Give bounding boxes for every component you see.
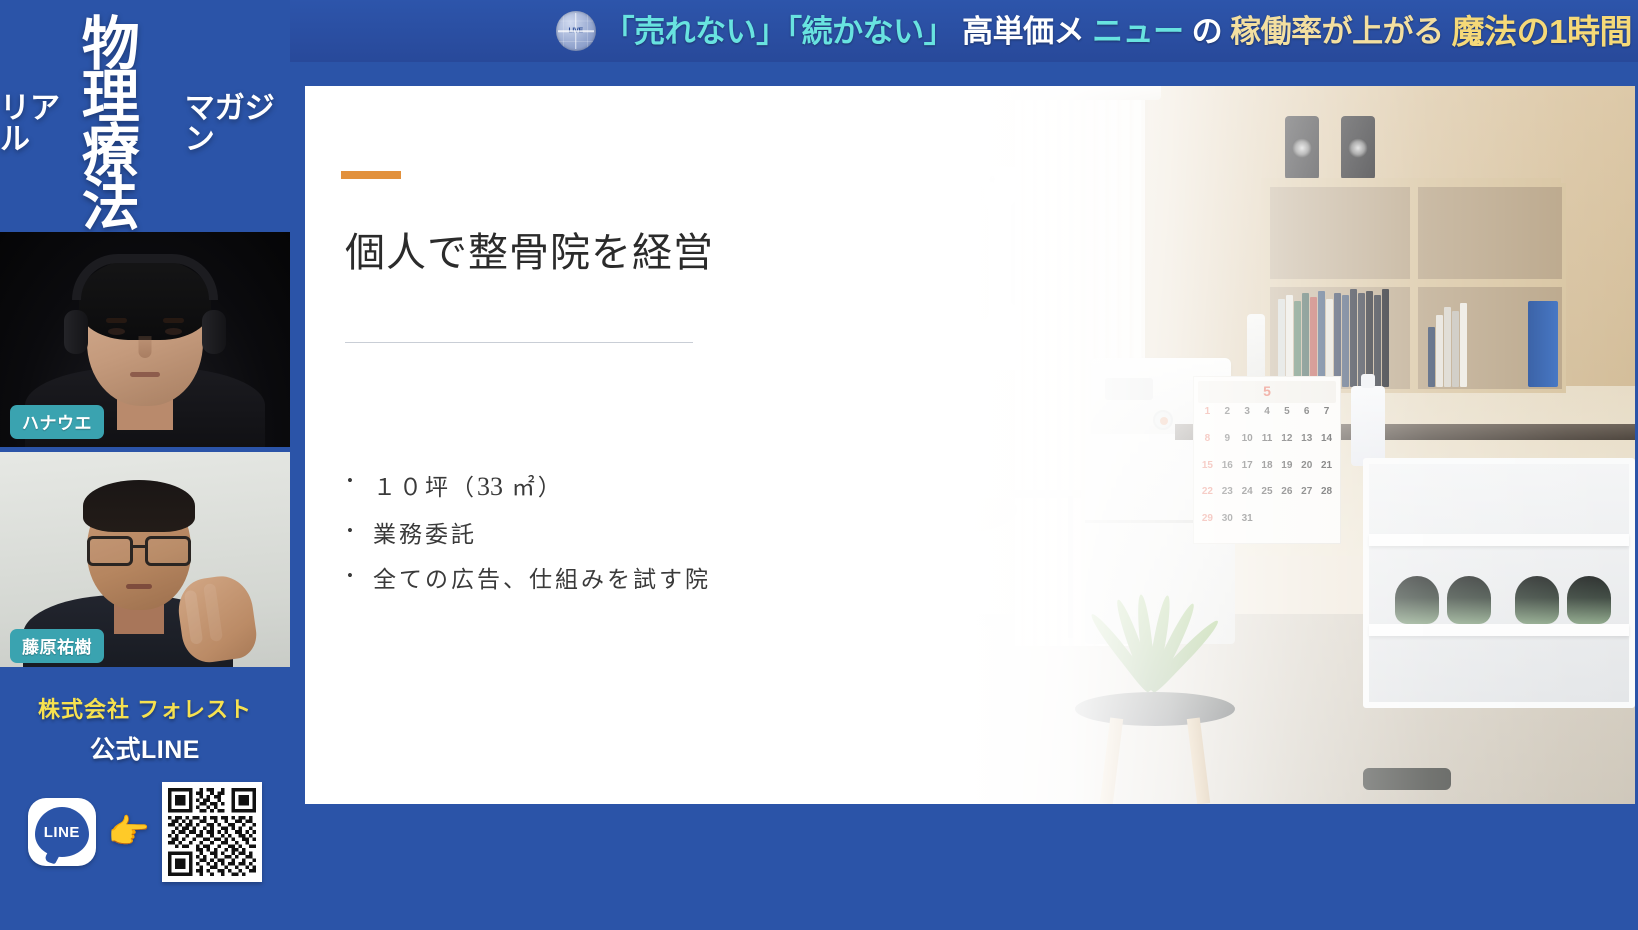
participant-mouth-2 [126, 584, 152, 589]
line-cta-row: LINE 👉 [0, 782, 290, 882]
eyeglasses-icon [87, 536, 191, 562]
participant-name-tag-2: 藤原祐樹 [10, 629, 104, 663]
participant-name-tag-1: ハナウエ [10, 405, 104, 439]
header-segment-2: 高単価メ [962, 16, 1084, 47]
accent-bar [341, 171, 401, 179]
globe-live-icon: LIVE [556, 11, 596, 51]
qr-code[interactable] [162, 782, 262, 882]
list-item: 業務委託 [341, 521, 761, 550]
sidebar: リアル 物理 療法 マガジン ハナウエ [0, 0, 290, 930]
headphone-cup-left [64, 310, 88, 354]
header-segment-5: 稼働率が上がる [1230, 16, 1444, 47]
branding-block: 株式会社 フォレスト 公式LINE LINE 👉 [0, 680, 290, 930]
slide-bullet-list: １０坪（33 ㎡） 業務委託 全ての広告、仕組みを試す院 [341, 471, 761, 612]
bullet-1-emphasis: 33 [477, 472, 503, 501]
header-title-group: LIVE 「売れない」「続かない」 高単価メ ニュー の 稼働率が上がる 魔法の… [556, 11, 1632, 51]
company-name: 株式会社 フォレスト [0, 692, 290, 724]
logo-right-vertical: マガジン [185, 18, 290, 231]
presentation-slide: 筋 肉 図 骨 [305, 86, 1635, 804]
header-segment-6: 魔法の1時間 [1452, 15, 1632, 48]
headphone-band-icon [72, 254, 218, 300]
webinar-stream-view: LIVE 「売れない」「続かない」 高単価メ ニュー の 稼働率が上がる 魔法の… [0, 0, 1638, 930]
participant-video-tile-2[interactable]: 藤原祐樹 [0, 452, 290, 667]
logo-left-vertical: リアル [0, 18, 79, 231]
list-item: １０坪（33 ㎡） [341, 471, 761, 504]
pointing-hand-icon: 👉 [108, 815, 150, 849]
line-badge-label: LINE [44, 824, 80, 841]
official-line-label: 公式LINE [0, 730, 290, 766]
photo-white-fade-overlay [775, 86, 1635, 804]
bullet-1-suffix: ） [538, 475, 564, 500]
clinic-interior-photo: 筋 肉 図 骨 [775, 86, 1635, 804]
title-divider [345, 342, 693, 343]
participant-video-tile-1[interactable]: ハナウエ [0, 232, 290, 447]
bullet-1-prefix: １０坪（ [373, 475, 477, 500]
list-item: 全ての広告、仕組みを試す院 [341, 566, 761, 595]
logo-main-line-2: 療法 [82, 125, 182, 232]
participant-brow-right-1 [163, 318, 184, 323]
slide-text-column: 個人で整骨院を経営 １０坪（33 ㎡） 業務委託 全ての広告、仕組みを試す院 [305, 86, 775, 804]
line-app-icon[interactable]: LINE [28, 798, 96, 866]
logo-main-line-1: 物理 [82, 18, 182, 125]
brand-logo: リアル 物理 療法 マガジン [0, 52, 290, 197]
globe-live-label: LIVE [568, 28, 582, 35]
participant-brow-left-1 [106, 318, 127, 323]
header-segment-4: の [1192, 16, 1223, 47]
participant-nose-1 [139, 336, 152, 358]
header-segment-3: ニュー [1092, 16, 1184, 47]
participant-eye-left-1 [108, 328, 125, 335]
slide-title: 個人で整骨院を経営 [345, 220, 714, 278]
bullet-1-unit: ㎡ [512, 475, 538, 500]
participant-mouth-1 [130, 372, 160, 377]
headphone-cup-right [202, 310, 226, 354]
participant-hair-2 [83, 480, 195, 532]
participant-eye-right-1 [165, 328, 182, 335]
header-segment-1: 「売れない」「続かない」 [604, 16, 955, 47]
